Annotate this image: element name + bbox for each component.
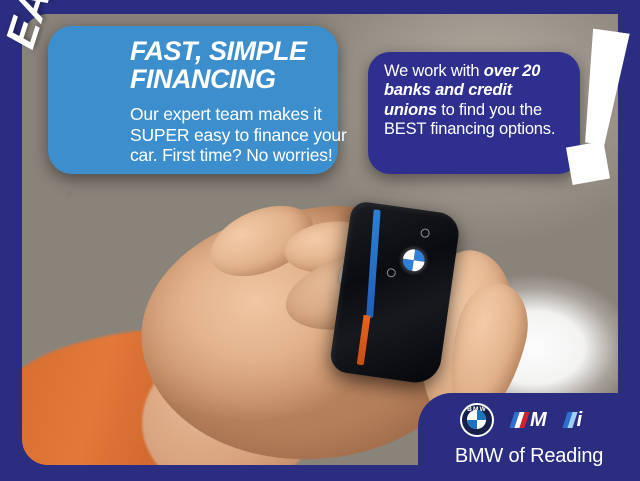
headline-text: FAST, SIMPLE FINANCING <box>130 38 356 93</box>
bmw-roundel-icon: BMW <box>460 403 494 437</box>
bmw-m-logo-icon: M <box>512 409 547 431</box>
dealer-branding-panel: BMW M i BMW of Reading <box>418 393 640 481</box>
key-lock-button-icon <box>420 228 430 238</box>
key-stripe-blue <box>366 209 380 318</box>
key-unlock-button-icon <box>386 268 396 278</box>
exclamation-dot-icon <box>566 141 610 185</box>
advertisement-banner: FAST, SIMPLE FINANCING Our expert team m… <box>0 0 640 481</box>
key-bmw-roundel-icon <box>399 246 428 275</box>
logo-row: BMW M i <box>460 403 582 437</box>
frame-left <box>0 0 22 481</box>
financing-headline-card: FAST, SIMPLE FINANCING Our expert team m… <box>48 26 338 174</box>
key-stripe-orange <box>357 315 371 365</box>
bmw-i-logo-icon: i <box>565 409 583 431</box>
frame-top <box>0 0 640 14</box>
headline-line-2: FINANCING <box>130 66 356 94</box>
banks-callout-text: We work with over 20 banks and credit un… <box>384 62 568 139</box>
headline-subcopy: Our expert team makes it SUPER easy to f… <box>130 104 354 166</box>
banks-callout-card: We work with over 20 banks and credit un… <box>368 52 580 174</box>
m-stripes <box>509 412 529 428</box>
headline-line-1: FAST, SIMPLE <box>130 38 356 66</box>
m-letter: M <box>530 410 547 430</box>
dealer-name: BMW of Reading <box>418 445 640 468</box>
callout-text-part1: We work with <box>384 62 484 80</box>
i-letter: i <box>577 410 583 430</box>
i-stripes <box>562 412 577 428</box>
roundel-quadrants <box>467 410 486 429</box>
